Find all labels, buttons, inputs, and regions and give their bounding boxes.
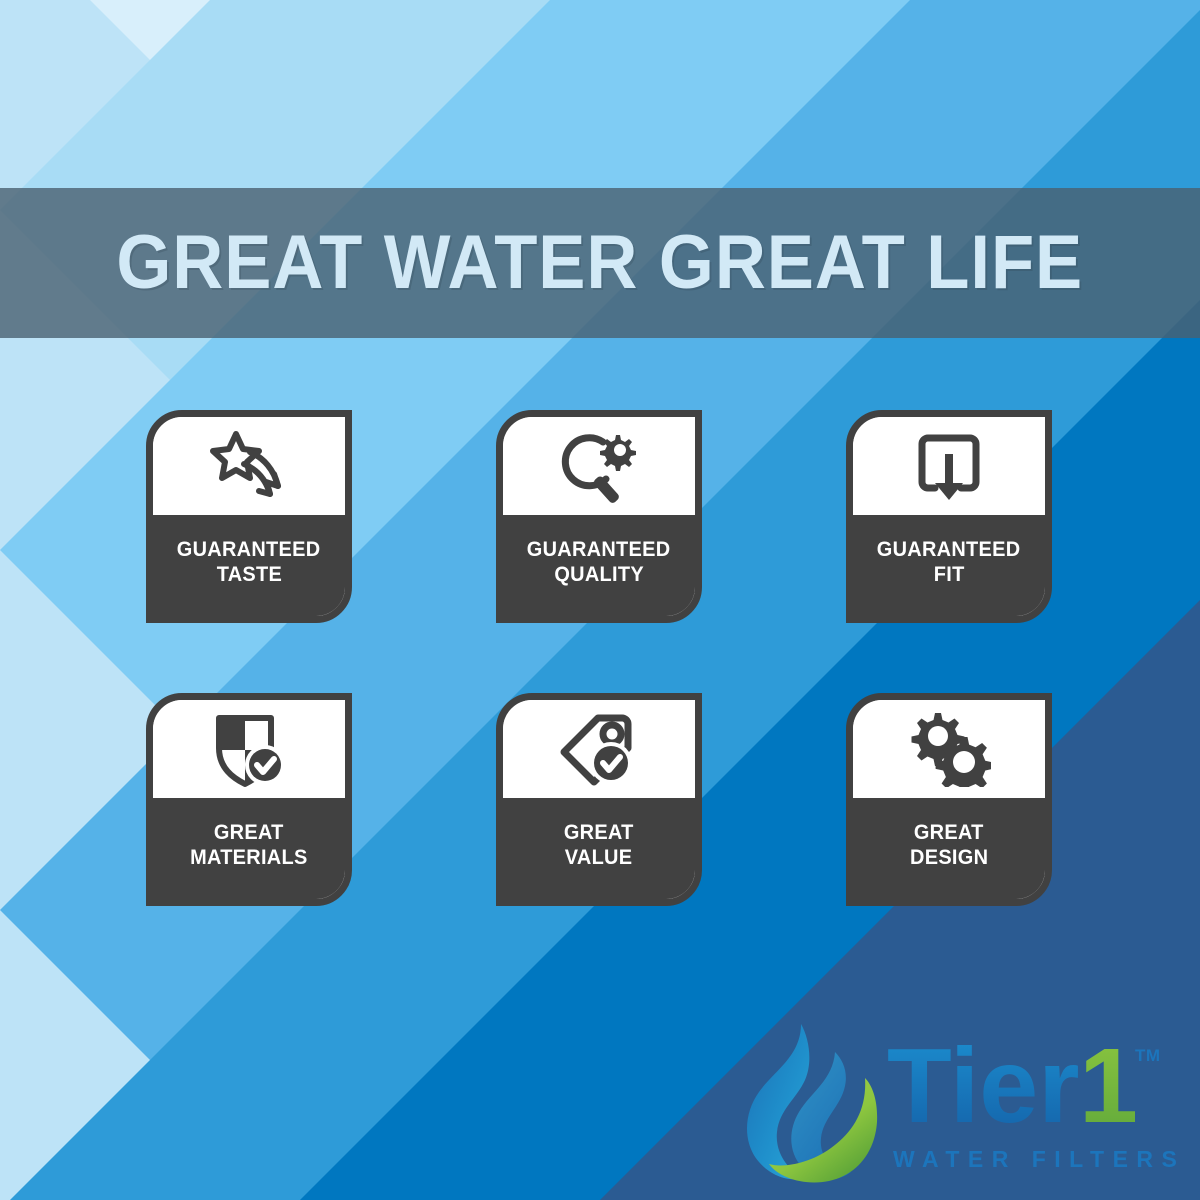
feature-card-guaranteed-fit: GUARANTEEDFIT: [846, 410, 1052, 623]
feature-card-label-area: GREATMATERIALS: [153, 798, 345, 899]
feature-card-label-line2: DESIGN: [910, 846, 988, 870]
feature-card-label-line1: GREAT: [564, 821, 634, 845]
feature-card-label-line1: GUARANTEED: [877, 538, 1021, 562]
shield-check-icon: [209, 710, 289, 788]
feature-card-label-line2: QUALITY: [554, 563, 644, 587]
feature-card-label-line2: MATERIALS: [190, 846, 307, 870]
feature-card-great-materials: GREATMATERIALS: [146, 693, 352, 906]
magnifier-gear-icon: [559, 429, 639, 503]
feature-card-icon-area: [503, 700, 695, 798]
feature-card-label-area: GREATVALUE: [503, 798, 695, 899]
feature-card-guaranteed-quality: GUARANTEEDQUALITY: [496, 410, 702, 623]
feature-card-icon-area: [503, 417, 695, 515]
feature-card-label-line1: GREAT: [914, 821, 984, 845]
feature-card-icon-area: [153, 700, 345, 798]
feature-card-label-line1: GREAT: [214, 821, 284, 845]
feature-card-label-line2: TASTE: [216, 563, 281, 587]
feature-card-grid: GUARANTEEDTASTE GUARANTEEDQUALITY GUARAN…: [146, 410, 1070, 906]
feature-card-great-design: GREATDESIGN: [846, 693, 1052, 906]
banner-title: GREAT WATER GREAT LIFE: [117, 225, 1084, 301]
water-drop-leaf-icon: [735, 1018, 885, 1195]
feature-card-label-area: GUARANTEEDTASTE: [153, 515, 345, 616]
feature-card-icon-area: [853, 700, 1045, 798]
trademark-symbol: TM: [1135, 1046, 1161, 1066]
feature-card-label-area: GUARANTEEDFIT: [853, 515, 1045, 616]
feature-card-great-value: GREATVALUE: [496, 693, 702, 906]
brand-wordmark: Tier 1: [887, 1034, 1157, 1149]
feature-card-icon-area: [153, 417, 345, 515]
gears-icon: [907, 711, 991, 787]
feature-card-label-line1: GUARANTEED: [527, 538, 671, 562]
insert-arrow-icon: [914, 428, 984, 504]
price-tag-check-icon: [558, 712, 640, 786]
feature-card-label-area: GUARANTEEDQUALITY: [503, 515, 695, 616]
feature-card-icon-area: [853, 417, 1045, 515]
tier1-logo: Tier 1 TM WATER FILTERS: [735, 1018, 1165, 1190]
headline-banner: GREAT WATER GREAT LIFE: [0, 188, 1200, 338]
feature-card-label-line2: VALUE: [565, 846, 633, 870]
logo-tagline: WATER FILTERS: [893, 1146, 1185, 1173]
brand-tier-text: Tier: [887, 1034, 1080, 1144]
feature-card-guaranteed-taste: GUARANTEEDTASTE: [146, 410, 352, 623]
feature-card-label-line2: FIT: [934, 563, 965, 587]
brand-one-text: 1: [1079, 1034, 1138, 1144]
shooting-star-icon: [210, 430, 288, 502]
promo-graphic: GREAT WATER GREAT LIFE GUARANTEEDTASTE G…: [0, 0, 1200, 1200]
feature-card-label-area: GREATDESIGN: [853, 798, 1045, 899]
feature-card-label-line1: GUARANTEED: [177, 538, 321, 562]
